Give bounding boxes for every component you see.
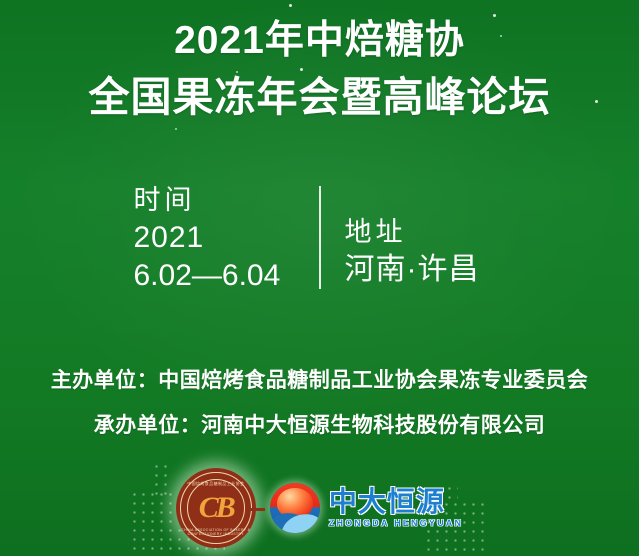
event-info-block: 时间 2021 6.02—6.04 地址 河南·许昌 [0,182,639,295]
time-label: 时间 [134,182,305,219]
address-value: 河南·许昌 [345,251,506,289]
zhongda-hengyuan-wordmark: 中大恒源 ZHONGDA HENGYUAN [329,487,463,529]
emblem-dash-mark [249,508,265,511]
decor-dot [289,4,292,7]
emblem-monogram: CB [199,493,233,523]
time-year: 2021 [134,219,305,257]
event-time-column: 时间 2021 6.02—6.04 [134,182,319,295]
time-range: 6.02—6.04 [134,257,305,295]
company-name-en: ZHONGDA HENGYUAN [329,517,463,529]
event-poster: 2021年中焙糖协 全国果冻年会暨高峰论坛 时间 2021 6.02—6.04 … [0,0,639,556]
zhongda-hengyuan-logo: 中大恒源 ZHONGDA HENGYUAN [270,483,463,533]
cabci-association-logo: 中国焙烤食品糖制品工业协会 CB CHINA ASSOCIATION OF BA… [176,468,256,548]
logo-row: 中国焙烤食品糖制品工业协会 CB CHINA ASSOCIATION OF BA… [0,462,639,554]
organizer-block: 主办单位：中国焙烤食品糖制品工业协会果冻专业委员会 承办单位：河南中大恒源生物科… [0,358,639,448]
emblem-arc-top-text: 中国焙烤食品糖制品工业协会 [176,481,256,487]
company-name-cn: 中大恒源 [329,487,445,517]
decor-dot [175,128,177,130]
host-organization-line: 主办单位：中国焙烤食品糖制品工业协会果冻专业委员会 [0,358,639,403]
event-address-column: 地址 河南·许昌 [321,182,506,289]
title-line-2: 全国果冻年会暨高峰论坛 [0,68,639,126]
organizing-unit-line: 承办单位：河南中大恒源生物科技股份有限公司 [0,403,639,448]
emblem-arc-bottom-text: CHINA ASSOCIATION OF BAKERY & CONFECTION… [176,528,256,536]
sun-wave-icon [270,483,320,533]
address-label: 地址 [345,214,506,251]
info-divider [319,186,321,289]
poster-title-block: 2021年中焙糖协 全国果冻年会暨高峰论坛 [0,14,639,126]
title-line-1: 2021年中焙糖协 [0,14,639,68]
